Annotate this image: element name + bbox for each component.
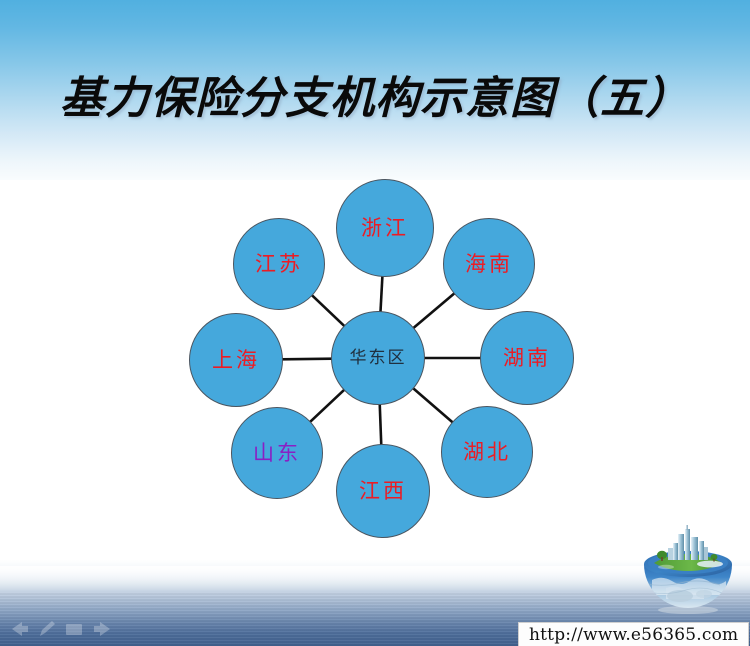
slide-icon: [66, 624, 82, 635]
diagram-node-top[interactable]: 浙江: [336, 179, 434, 277]
diagram-node-bottom-left[interactable]: 山东: [231, 407, 323, 499]
previous-arrow-icon: [12, 622, 28, 636]
diagram-node-bottom-right[interactable]: 湖北: [441, 406, 533, 498]
diagram-edge-left: [282, 359, 332, 360]
diagram-edge-top: [380, 276, 382, 312]
node-label: 山东: [253, 443, 301, 464]
diagram-node-center[interactable]: 华东区: [331, 311, 425, 405]
slide-canvas: 基力保险分支机构示意图（五） 浙江海南湖南湖北江西山东上海江苏华东区: [0, 0, 750, 646]
slideshow-navigation-icons[interactable]: [6, 618, 118, 640]
diagram-node-left[interactable]: 上海: [189, 313, 283, 407]
next-arrow-icon: [94, 622, 110, 636]
diagram-edge-top-right: [413, 293, 455, 328]
diagram-edge-bottom-left: [310, 390, 345, 423]
node-label: 上海: [212, 350, 260, 371]
node-label: 华东区: [350, 350, 407, 367]
diagram-node-right[interactable]: 湖南: [480, 311, 574, 405]
diagram-node-bottom[interactable]: 江西: [336, 444, 430, 538]
node-label: 浙江: [361, 218, 409, 239]
node-label: 江苏: [255, 254, 303, 275]
earth-city-globe-logo: [636, 524, 740, 616]
node-label: 湖北: [463, 442, 511, 463]
pen-icon: [40, 621, 55, 636]
diagram-node-top-left[interactable]: 江苏: [233, 218, 325, 310]
node-label: 海南: [465, 254, 513, 275]
diagram-edge-top-left: [312, 295, 345, 326]
node-label: 江西: [359, 481, 407, 502]
diagram-edge-bottom-right: [413, 388, 453, 423]
node-label: 湖南: [503, 348, 551, 369]
url-watermark: http://www.e56365.com: [518, 622, 749, 646]
diagram-edge-bottom: [380, 404, 382, 445]
diagram-node-top-right[interactable]: 海南: [443, 218, 535, 310]
